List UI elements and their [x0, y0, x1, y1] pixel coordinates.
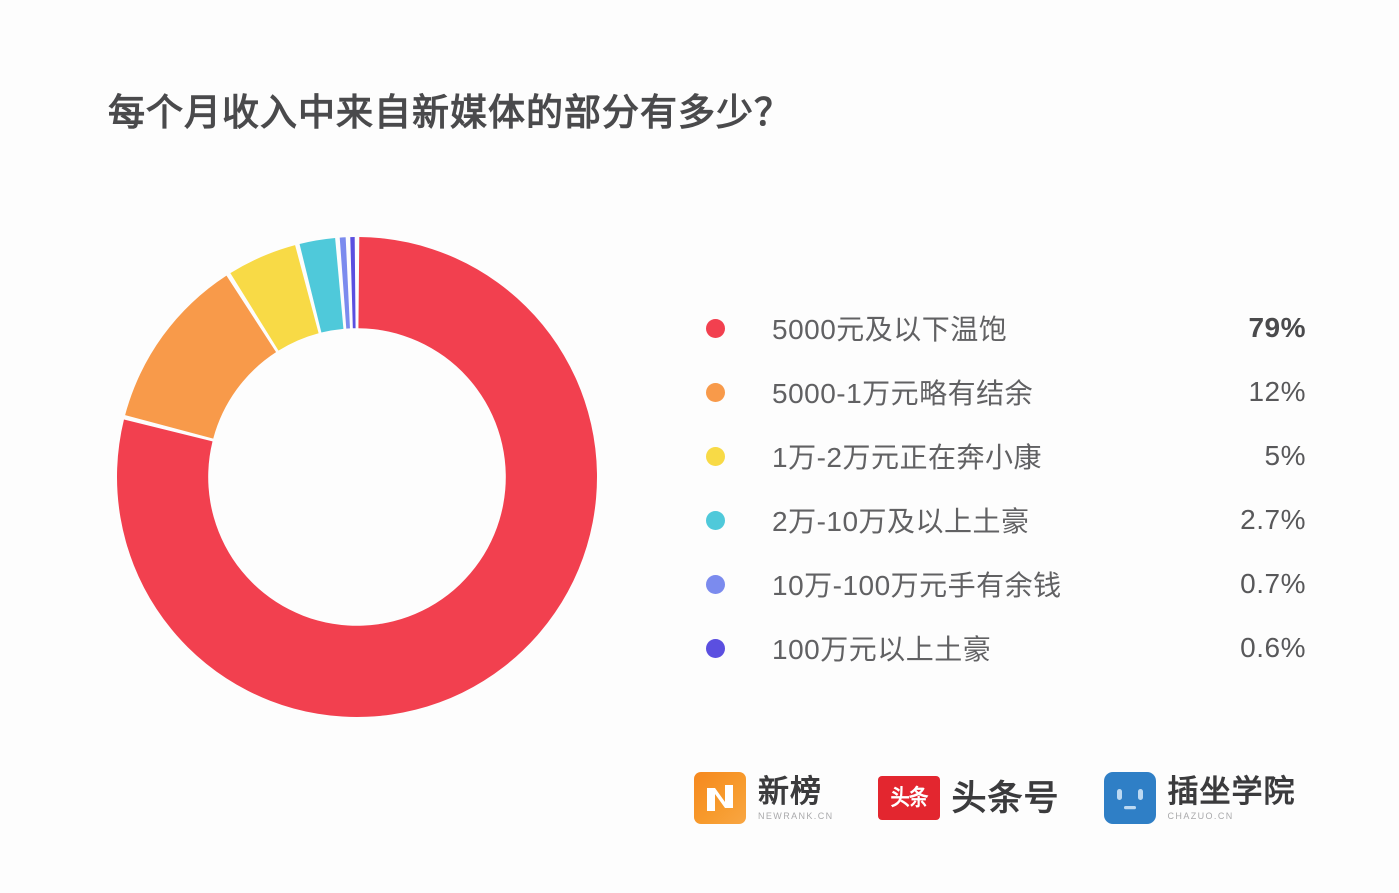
toutiao-logo-icon: 头条: [878, 776, 940, 820]
legend-item-label: 5000元及以下温饱: [772, 308, 1186, 348]
legend-item[interactable]: 5000元及以下温饱79%: [706, 296, 1306, 360]
donut-chart: [112, 232, 602, 722]
footer-logo-row: 新榜 NEWRANK.CN 头条 头条号 插坐学院 CHAZU: [694, 772, 1296, 824]
legend-item-label: 2万-10万及以上土豪: [772, 500, 1186, 540]
logo-chazuo: 插坐学院 CHAZUO.CN: [1104, 772, 1296, 824]
chazuo-logo-text: 插坐学院 CHAZUO.CN: [1168, 776, 1296, 821]
legend-item-value: 12%: [1186, 376, 1306, 408]
legend-item[interactable]: 5000-1万元略有结余12%: [706, 360, 1306, 424]
legend-item-label: 1万-2万元正在奔小康: [772, 436, 1186, 476]
legend-item[interactable]: 2万-10万及以上土豪2.7%: [706, 488, 1306, 552]
newrank-logo-name: 新榜: [758, 776, 834, 807]
toutiao-badge-text: 头条: [890, 787, 927, 809]
page-title: 每个月收入中来自新媒体的部分有多少？: [108, 82, 792, 136]
legend-item[interactable]: 10万-100万元手有余钱0.7%: [706, 552, 1306, 616]
logo-newrank: 新榜 NEWRANK.CN: [694, 772, 834, 824]
logo-toutiao: 头条 头条号: [878, 776, 1060, 820]
newrank-logo-text: 新榜 NEWRANK.CN: [758, 776, 834, 821]
legend-item[interactable]: 1万-2万元正在奔小康5%: [706, 424, 1306, 488]
chart-legend: 5000元及以下温饱79%5000-1万元略有结余12%1万-2万元正在奔小康5…: [706, 296, 1306, 680]
chazuo-logo-sub: CHAZUO.CN: [1168, 812, 1296, 821]
donut-slice[interactable]: [350, 237, 355, 328]
legend-item-value: 5%: [1186, 440, 1306, 472]
legend-item-value: 79%: [1186, 312, 1306, 344]
legend-color-dot: [706, 447, 725, 466]
legend-color-dot: [706, 319, 725, 338]
legend-item-label: 5000-1万元略有结余: [772, 372, 1186, 412]
donut-slices: [117, 237, 597, 717]
legend-item[interactable]: 100万元以上土豪0.6%: [706, 616, 1306, 680]
slide-canvas: 每个月收入中来自新媒体的部分有多少？ 5000元及以下温饱79%5000-1万元…: [0, 0, 1399, 893]
toutiao-logo-name: 头条号: [952, 781, 1060, 816]
legend-item-value: 0.7%: [1186, 568, 1306, 600]
chazuo-logo-icon: [1104, 772, 1156, 824]
legend-item-value: 0.6%: [1186, 632, 1306, 664]
chazuo-logo-name: 插坐学院: [1168, 776, 1296, 807]
newrank-logo-sub: NEWRANK.CN: [758, 812, 834, 821]
toutiao-logo-text: 头条号: [952, 781, 1060, 816]
legend-color-dot: [706, 639, 725, 658]
legend-item-label: 10万-100万元手有余钱: [772, 564, 1186, 604]
newrank-logo-icon: [694, 772, 746, 824]
legend-color-dot: [706, 511, 725, 530]
legend-item-value: 2.7%: [1186, 504, 1306, 536]
legend-item-label: 100万元以上土豪: [772, 628, 1186, 668]
legend-color-dot: [706, 575, 725, 594]
legend-color-dot: [706, 383, 725, 402]
donut-chart-svg: [112, 232, 602, 722]
